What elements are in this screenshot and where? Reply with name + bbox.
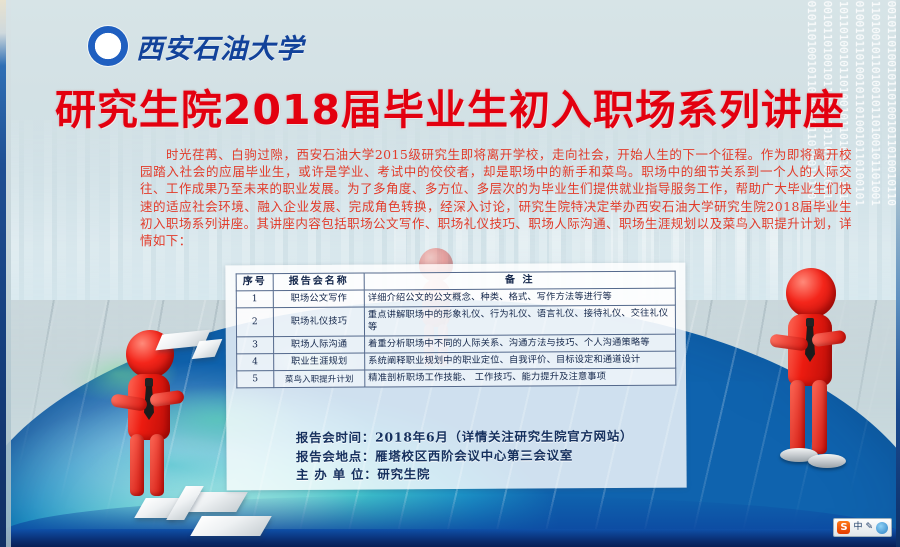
event-details: 报告会时间：2018年6月（详情关注研究生院官方网站） 报告会地点：雁塔校区西阶… xyxy=(296,427,716,485)
poster-canvas: 10010110100101101001011010010110 0110100… xyxy=(0,0,900,547)
mascot-leg-right xyxy=(150,434,164,496)
event-time: 报告会时间：2018年6月（详情关注研究生院官方网站） xyxy=(296,427,716,448)
event-host: 主 办 单 位：研究生院 xyxy=(296,464,716,485)
row-name: 职业生涯规划 xyxy=(274,353,365,371)
table-row: 2 职场礼仪技巧 重点讲解职场中的形象礼仪、行为礼仪、语言礼仪、接待礼仪、交往礼… xyxy=(236,305,675,337)
mascot-tie-knot xyxy=(145,378,153,387)
university-name: 西安石油大学 xyxy=(136,27,304,66)
row-name: 菜鸟入职提升计划 xyxy=(274,370,365,388)
row-no: 2 xyxy=(236,308,273,337)
row-name: 职场礼仪技巧 xyxy=(273,307,364,337)
row-no: 3 xyxy=(237,337,274,354)
mascot-platform-disc-right xyxy=(808,454,846,468)
mascot-figure-right xyxy=(766,268,866,468)
mascot-leg-left xyxy=(130,434,144,496)
mascot-figure-left xyxy=(106,330,202,500)
row-no: 1 xyxy=(236,291,273,308)
ime-toolbar[interactable]: S 中 ✎ xyxy=(833,518,892,537)
globe-icon[interactable] xyxy=(876,522,888,534)
mascot-tie-knot xyxy=(806,318,814,327)
table-header-no: 序号 xyxy=(236,274,273,291)
step-block-3 xyxy=(190,516,272,536)
row-no: 5 xyxy=(237,371,274,388)
row-no: 4 xyxy=(237,354,274,371)
table-row: 5 菜鸟入职提升计划 精准剖析职场工作技能、 工作技巧、能力提升及注意事项 xyxy=(237,368,676,388)
row-note: 精准剖析职场工作技能、 工作技巧、能力提升及注意事项 xyxy=(365,368,676,387)
row-note: 系统阐释职业规划中的职业定位、自我评价、目标设定和通道设计 xyxy=(365,351,676,370)
bottom-bar xyxy=(0,529,900,547)
university-logo: 西安石油大学 xyxy=(88,26,304,66)
schedule-table: 序号 报告会名称 备 注 1 职场公文写作 详细介绍公文的公文概念、种类、格式、… xyxy=(236,271,677,389)
table-header-note: 备 注 xyxy=(364,271,675,290)
table-header-name: 报告会名称 xyxy=(273,273,364,291)
mascot-leg-left xyxy=(790,380,805,454)
university-emblem-icon xyxy=(88,26,128,66)
row-note: 重点讲解职场中的形象礼仪、行为礼仪、语言礼仪、接待礼仪、交往礼仪等 xyxy=(364,305,675,336)
row-note: 着重分析职场中不同的人际关系、沟通方法与技巧、个人沟通策略等 xyxy=(365,334,676,353)
intro-paragraph: 时光荏苒、白驹过隙，西安石油大学2015级研究生即将离开学校，走向社会，开始人生… xyxy=(140,146,852,249)
ime-language-mode[interactable]: 中 xyxy=(853,521,862,534)
mascot-head xyxy=(786,268,836,318)
pen-icon[interactable]: ✎ xyxy=(865,521,873,534)
sogou-logo-icon[interactable]: S xyxy=(837,521,850,534)
row-name: 职场公文写作 xyxy=(273,290,364,308)
mascot-leg-right xyxy=(812,380,827,454)
row-note: 详细介绍公文的公文概念、种类、格式、写作方法等进行等 xyxy=(364,288,675,307)
row-name: 职场人际沟通 xyxy=(274,336,365,354)
page-title: 研究生院2018届毕业生初入职场系列讲座 xyxy=(0,76,900,136)
event-place: 报告会地点：雁塔校区西阶会议中心第三会议室 xyxy=(296,445,716,466)
